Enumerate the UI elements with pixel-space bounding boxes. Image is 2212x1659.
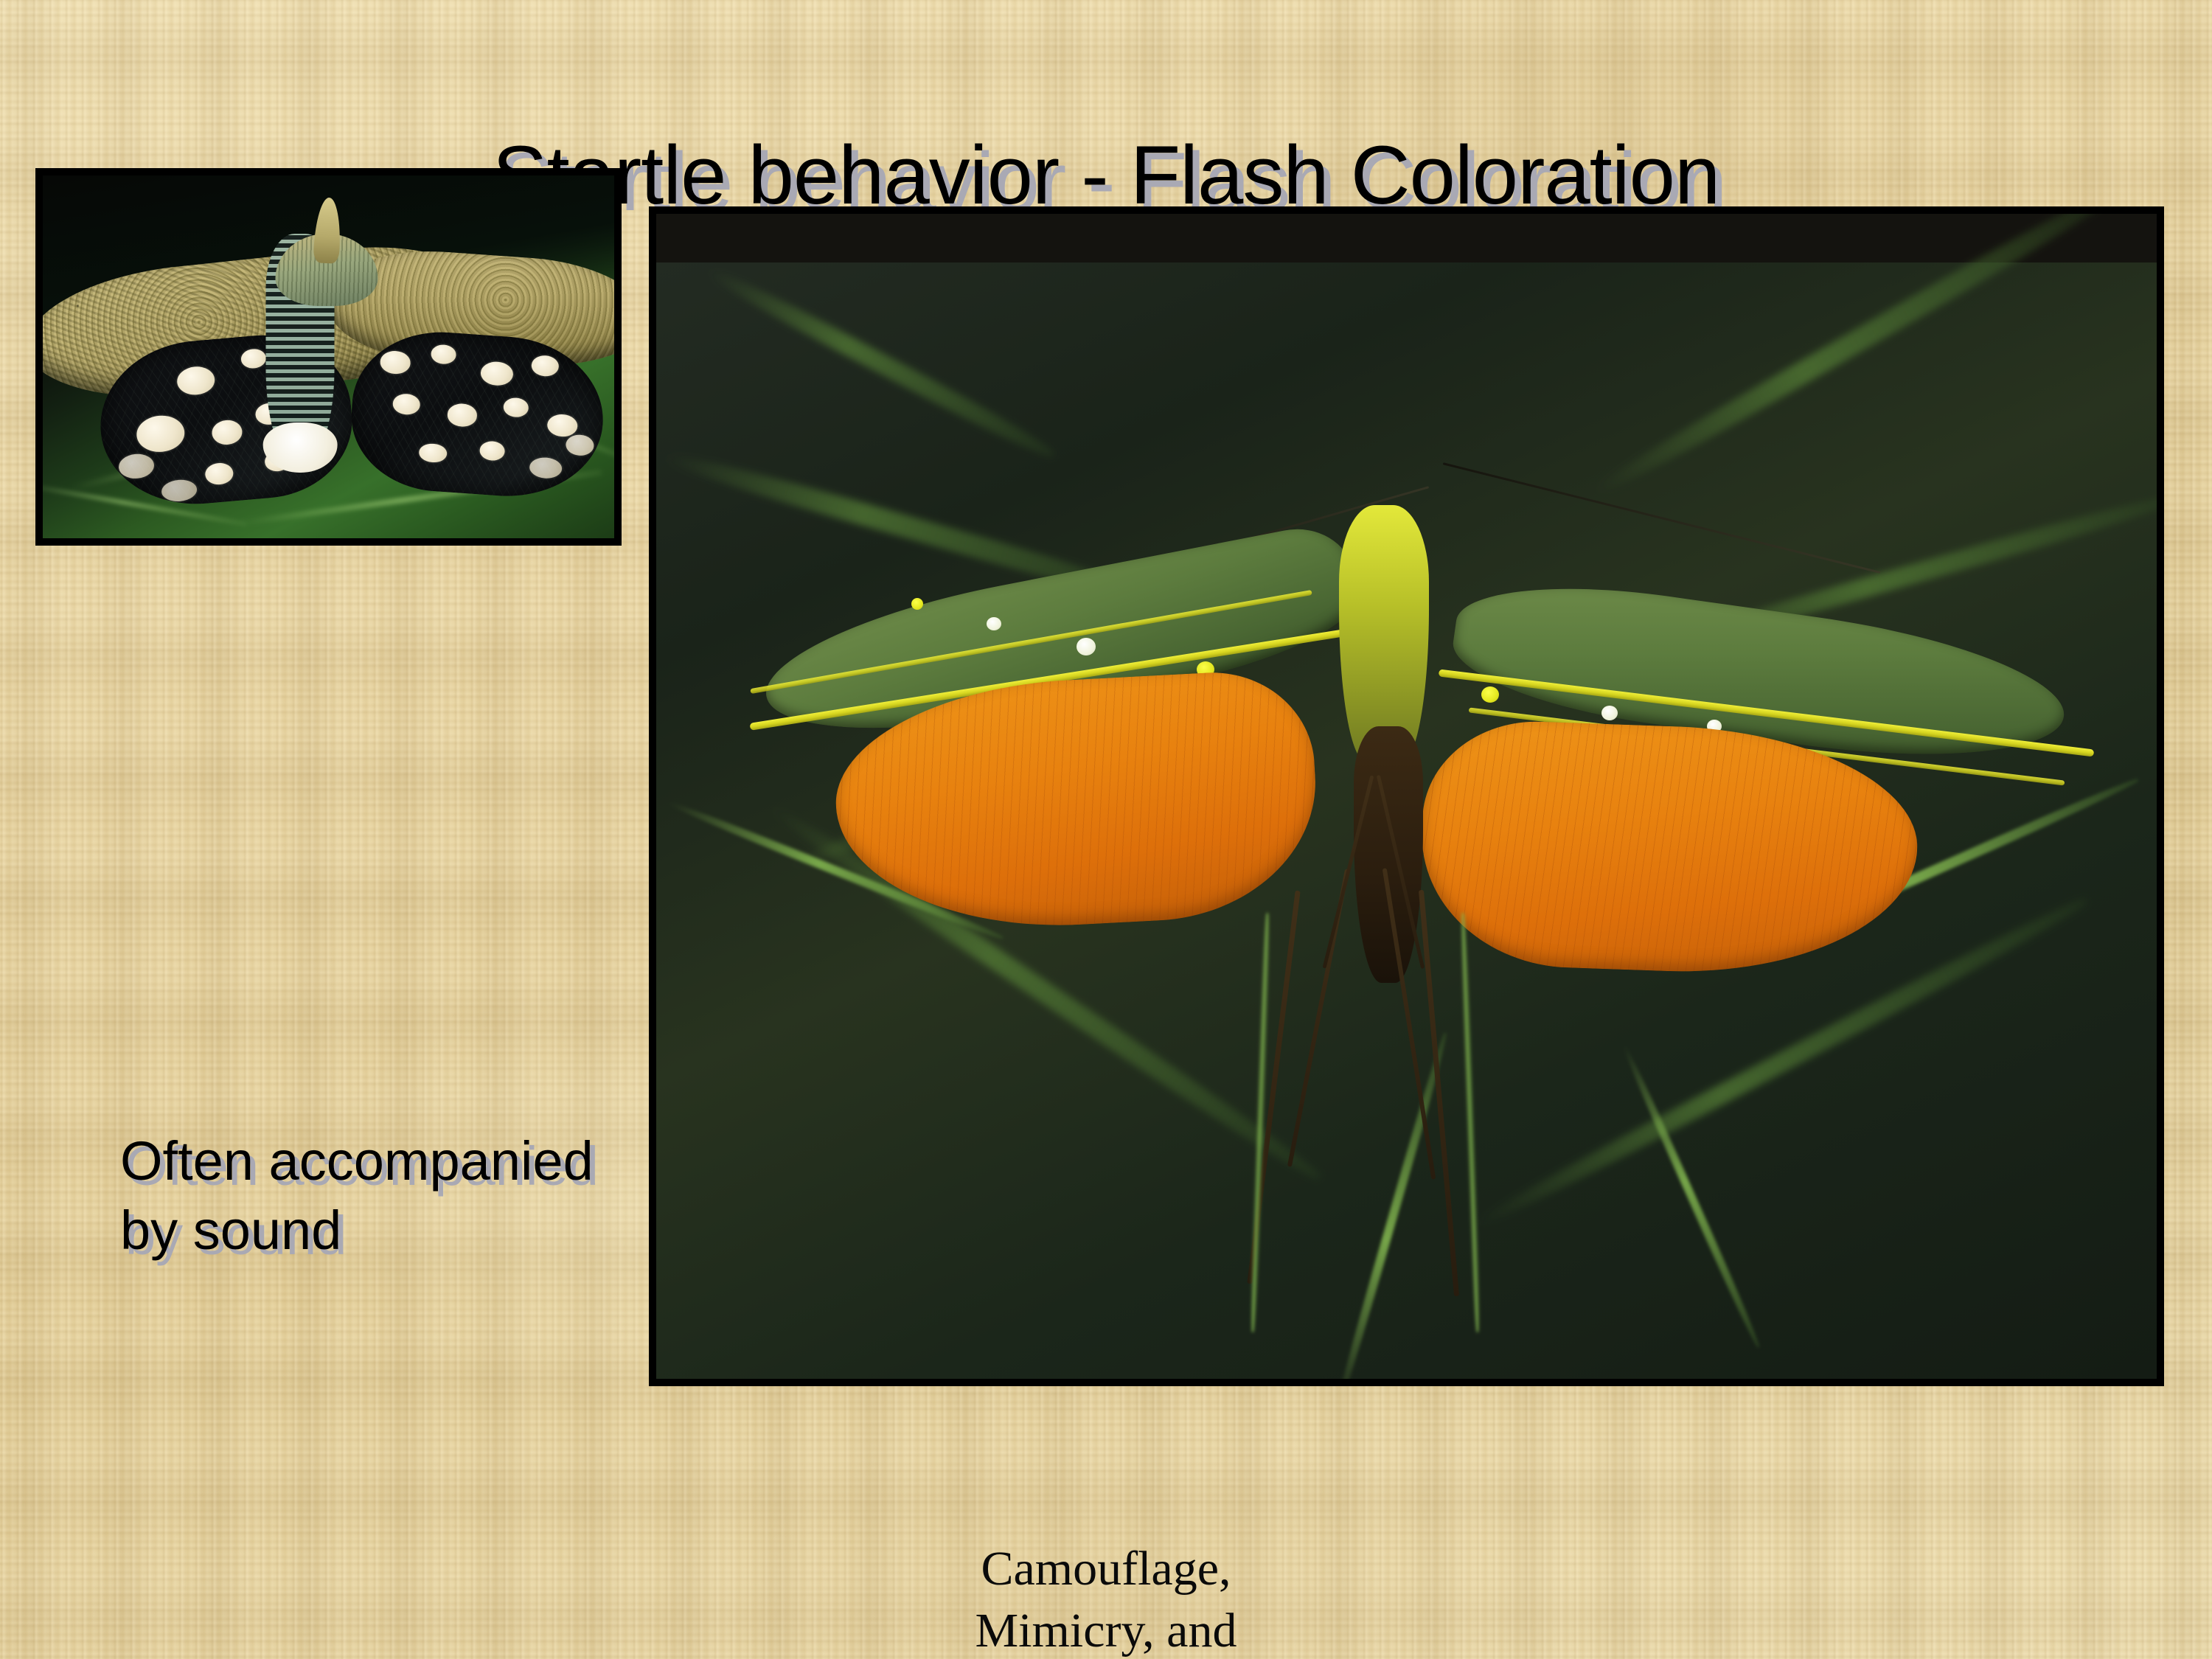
lanternfly-photo — [35, 168, 622, 546]
wing-spot — [392, 393, 420, 416]
wing-spot — [379, 350, 411, 375]
wing-spot-white — [1077, 638, 1096, 655]
footer-text-line-2: Mimicry, and — [0, 1600, 2212, 1659]
wing-spot — [430, 344, 456, 365]
wing-spot-white — [1601, 706, 1618, 720]
slide-canvas: Startle behavior - Flash Coloration — [0, 0, 2212, 1659]
katydid-abdomen — [1354, 726, 1423, 983]
wing-spot — [546, 414, 578, 438]
wing-spot-white — [987, 617, 1001, 630]
lanternfly-photo-content — [43, 175, 614, 538]
wing-spot — [479, 441, 506, 462]
wing-spot — [135, 414, 186, 454]
wing-spot — [502, 397, 529, 418]
wing-spot — [118, 453, 155, 480]
wing-spot — [446, 403, 478, 428]
wing-spot — [530, 355, 559, 378]
body-text-block: Often accompanied by sound — [120, 1127, 1005, 1265]
wing-spot — [240, 348, 266, 369]
wing-spot — [160, 479, 197, 503]
footer-text-line-1: Camouflage, — [0, 1538, 2212, 1600]
wing-spot — [418, 443, 447, 465]
photo-letterbox-band — [656, 214, 2157, 262]
footer-text-block: Camouflage, Mimicry, and — [0, 1538, 2212, 1659]
body-text-line-2: by sound — [120, 1196, 1005, 1265]
wing-spot — [479, 361, 513, 386]
wing-spot — [528, 457, 562, 480]
wing-spot — [175, 366, 215, 397]
body-text-line-1: Often accompanied — [120, 1127, 1005, 1196]
katydid-thorax — [1339, 505, 1429, 762]
wing-spot — [565, 434, 594, 457]
wing-spot — [211, 419, 243, 446]
wing-spot — [204, 462, 234, 486]
